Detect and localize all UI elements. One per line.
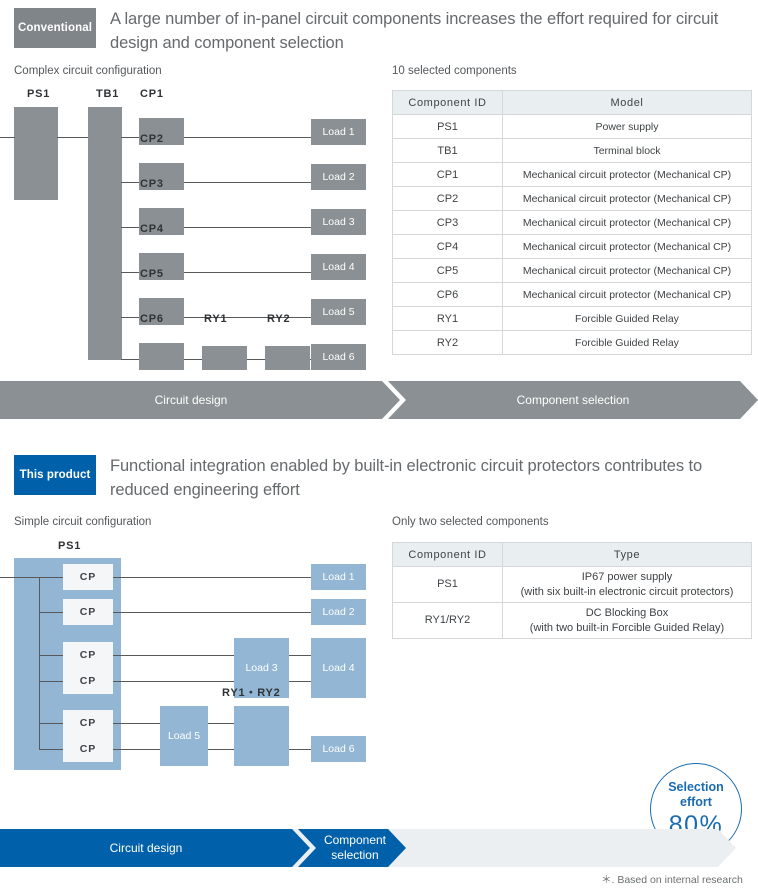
- wire-load3-load4-upper: [289, 655, 312, 656]
- badge-conventional: Conventional: [14, 8, 96, 48]
- cell-component-id: PS1: [393, 115, 503, 139]
- cell-type: IP67 power supply (with six built-in ele…: [503, 567, 752, 603]
- process-step-label-line2: selection: [324, 848, 386, 863]
- label-ry2: RY2: [267, 313, 290, 325]
- table-row: TB1 Terminal block: [393, 139, 752, 163]
- table-row: RY1/RY2 DC Blocking Box (with two built-…: [393, 603, 752, 639]
- cell-type: DC Blocking Box (with two built-in Forci…: [503, 603, 752, 639]
- wire-ry1-ry2: [247, 359, 265, 360]
- wire-cp5-load5: [113, 723, 161, 724]
- label-only-two-selected-components: Only two selected components: [392, 516, 549, 528]
- box-load-5: Load 5: [160, 706, 208, 766]
- block-cp-5: CP: [63, 710, 113, 736]
- cell-component-id: RY1/RY2: [393, 603, 503, 639]
- label-complex-circuit-configuration: Complex circuit configuration: [14, 65, 162, 77]
- table-row: CP5 Mechanical circuit protector (Mechan…: [393, 259, 752, 283]
- box-load-1: Load 1: [311, 119, 366, 145]
- wire-cp6-load5: [113, 749, 161, 750]
- cell-component-id: CP5: [393, 259, 503, 283]
- label-cp1: CP1: [140, 88, 164, 100]
- label-cp4: CP4: [140, 223, 164, 235]
- block-cp-2: CP: [63, 599, 113, 625]
- table-row: PS1 Power supply: [393, 115, 752, 139]
- label-cp5: CP5: [140, 268, 164, 280]
- wire-load5-relay-lower: [208, 749, 235, 750]
- box-load-4: Load 4: [311, 254, 366, 280]
- cell-component-id: CP1: [393, 163, 503, 187]
- box-load-4: Load 4: [311, 638, 366, 698]
- table-row: CP6 Mechanical circuit protector (Mechan…: [393, 283, 752, 307]
- box-load-3: Load 3: [311, 209, 366, 235]
- cell-model: Power supply: [503, 115, 752, 139]
- wire-bus-cp2: [39, 612, 64, 613]
- cell-component-id: CP4: [393, 235, 503, 259]
- block-ry1: [202, 346, 247, 370]
- metric-title-line2: effort: [680, 795, 712, 810]
- wire-cp1-load1: [113, 577, 313, 578]
- label-cp3: CP3: [140, 178, 164, 190]
- process-step-circuit-design: Circuit design: [0, 829, 310, 867]
- process-step-label: Circuit design: [110, 841, 183, 856]
- wire-input-ps1: [0, 137, 15, 138]
- cell-model: Forcible Guided Relay: [503, 331, 752, 355]
- wire-ps1-tb1: [57, 137, 89, 138]
- label-ry1: RY1: [204, 313, 227, 325]
- wire-tb1-cp4: [121, 272, 140, 273]
- badge-this-product: This product: [14, 455, 96, 495]
- cell-type-line2: (with six built-in electronic circuit pr…: [507, 585, 747, 600]
- box-load-2: Load 2: [311, 164, 366, 190]
- wire-relay-load6: [289, 749, 312, 750]
- block-cp-1: CP: [63, 564, 113, 590]
- label-cp2: CP2: [140, 133, 164, 145]
- label-tb1: TB1: [96, 88, 119, 100]
- cell-component-id: CP2: [393, 187, 503, 211]
- process-step-label: Component selection: [517, 393, 630, 408]
- cell-model: Mechanical circuit protector (Mechanical…: [503, 259, 752, 283]
- wire-cp6-ry1: [184, 359, 202, 360]
- label-cp6: CP6: [140, 313, 164, 325]
- wire-cp2-load2: [113, 612, 313, 613]
- wire-bus-cp5: [39, 723, 64, 724]
- label-ps1: PS1: [27, 88, 50, 100]
- th-model: Model: [503, 91, 752, 115]
- cell-model: Mechanical circuit protector (Mechanical…: [503, 187, 752, 211]
- cell-component-id: CP6: [393, 283, 503, 307]
- cell-type-line1: DC Blocking Box: [507, 606, 747, 621]
- wire-cp1-load1: [184, 137, 312, 138]
- process-step-label-line1: Component: [324, 833, 386, 848]
- th-component-id: Component ID: [393, 91, 503, 115]
- process-step-circuit-design: Circuit design: [0, 381, 400, 419]
- label-simple-circuit-configuration: Simple circuit configuration: [14, 516, 151, 528]
- table-selected-components-conventional: Component ID Model PS1 Power supply TB1 …: [392, 90, 752, 355]
- block-ry2: [265, 346, 310, 370]
- headline-conventional: A large number of in-panel circuit compo…: [110, 7, 750, 55]
- cell-type-line1: IP67 power supply: [507, 570, 747, 585]
- table-header-row: Component ID Model: [393, 91, 752, 115]
- headline-this-product: Functional integration enabled by built-…: [110, 454, 755, 502]
- wire-bus-cp4: [39, 681, 64, 682]
- box-load-2: Load 2: [311, 599, 366, 625]
- cell-model: Terminal block: [503, 139, 752, 163]
- footnote: ＊. Based on internal research: [601, 872, 743, 887]
- block-cp-4: CP: [63, 668, 113, 694]
- diagram-product-circuit: PS1 CP Load 1 CP Load 2 CP CP Load 3 Loa…: [0, 538, 390, 773]
- wire-tb1-cp3: [121, 227, 140, 228]
- block-ps1: [14, 107, 58, 200]
- table-header-row: Component ID Type: [393, 543, 752, 567]
- process-arrow-conventional: Circuit design Component selection: [0, 381, 758, 419]
- cell-model: Mechanical circuit protector (Mechanical…: [503, 163, 752, 187]
- wire-bus-cp6: [39, 749, 64, 750]
- block-tb1: [88, 107, 122, 360]
- cell-model: Forcible Guided Relay: [503, 307, 752, 331]
- cell-component-id: RY1: [393, 307, 503, 331]
- cell-model: Mechanical circuit protector (Mechanical…: [503, 235, 752, 259]
- cell-component-id: PS1: [393, 567, 503, 603]
- cell-component-id: CP3: [393, 211, 503, 235]
- table-row: RY1 Forcible Guided Relay: [393, 307, 752, 331]
- label-selected-components-count: 10 selected components: [392, 65, 517, 77]
- cell-type-line2: (with two built-in Forcible Guided Relay…: [507, 621, 747, 636]
- block-cp-6: CP: [63, 736, 113, 762]
- label-ry1-ry2: RY1・RY2: [222, 684, 281, 700]
- box-load-5: Load 5: [311, 299, 366, 325]
- block-dc-blocking-box: [234, 706, 289, 766]
- cell-model: Mechanical circuit protector (Mechanical…: [503, 211, 752, 235]
- wire-cp4-load4: [184, 272, 312, 273]
- block-cp-3: CP: [63, 642, 113, 668]
- wire-cp3-load3: [184, 227, 312, 228]
- block-cp6: [139, 343, 184, 370]
- wire-bus-cp1: [39, 577, 64, 578]
- cell-model: Mechanical circuit protector (Mechanical…: [503, 283, 752, 307]
- label-ps1: PS1: [58, 540, 81, 552]
- wire-cp2-load2: [184, 182, 312, 183]
- table-row: CP1 Mechanical circuit protector (Mechan…: [393, 163, 752, 187]
- table-row: CP3 Mechanical circuit protector (Mechan…: [393, 211, 752, 235]
- th-type: Type: [503, 543, 752, 567]
- wire-cp4-load3: [113, 681, 235, 682]
- wire-bus-cp3: [39, 655, 64, 656]
- process-step-label: Circuit design: [155, 393, 228, 408]
- process-arrow-product: Circuit design Component selection: [0, 829, 758, 867]
- metric-title-line1: Selection: [668, 780, 724, 795]
- table-row: CP2 Mechanical circuit protector (Mechan…: [393, 187, 752, 211]
- wire-input-ps1: [0, 577, 40, 578]
- th-component-id: Component ID: [393, 543, 503, 567]
- wire-tb1-cp1: [121, 137, 140, 138]
- wire-tb1-cp2: [121, 182, 140, 183]
- box-load-1: Load 1: [311, 564, 366, 590]
- table-row: RY2 Forcible Guided Relay: [393, 331, 752, 355]
- wire-cp3-load3: [113, 655, 235, 656]
- table-row: PS1 IP67 power supply (with six built-in…: [393, 567, 752, 603]
- box-load-6: Load 6: [311, 344, 366, 370]
- box-load-6: Load 6: [311, 736, 366, 762]
- wire-load5-relay-upper: [208, 723, 235, 724]
- cell-component-id: TB1: [393, 139, 503, 163]
- wire-load3-load4-lower: [289, 681, 312, 682]
- wire-tb1-cp6: [121, 359, 140, 360]
- table-row: CP4 Mechanical circuit protector (Mechan…: [393, 235, 752, 259]
- process-step-label: Component selection: [324, 833, 386, 863]
- process-step-component-selection: Component selection: [388, 381, 758, 419]
- diagram-conventional-circuit: PS1 TB1 CP1 Load 1 CP2 Load 2 CP3 Load 3…: [0, 85, 390, 370]
- cell-component-id: RY2: [393, 331, 503, 355]
- table-selected-components-product: Component ID Type PS1 IP67 power supply …: [392, 542, 752, 639]
- wire-tb1-cp5: [121, 317, 140, 318]
